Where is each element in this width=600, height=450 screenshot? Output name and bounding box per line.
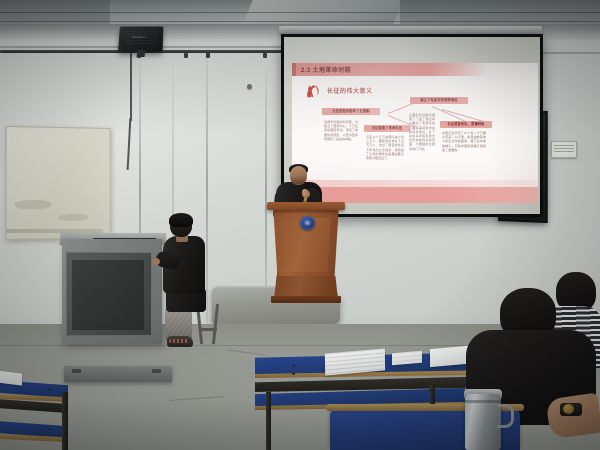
desk-screw-2 xyxy=(292,372,295,375)
wall-seam-2 xyxy=(206,40,208,330)
conduit-clip-2 xyxy=(184,53,188,58)
lecturer-hand xyxy=(302,190,310,198)
whiteboard-smudge-2 xyxy=(59,214,88,221)
conduit-clip-4 xyxy=(263,53,267,58)
operator-hand xyxy=(152,258,160,265)
whiteboard xyxy=(6,126,111,240)
slide-chip-0: 长征的胜利粉碎了反围剿 xyxy=(322,108,380,115)
wall-notice-sign xyxy=(551,141,577,158)
ceiling-panel-line-2 xyxy=(0,21,600,22)
slide-body-0: 这两年光辉的时间里，为保卫了国家中心，十万红军的团结率领，带领了重要的领导层，以… xyxy=(324,120,358,164)
presentation-slide: 2.3 土地革命时期 长征的伟大意义 长征的胜利粉碎了反围剿 确立了毛泽东的领导… xyxy=(292,63,538,203)
podium-plinth xyxy=(271,296,341,303)
slide-body-2: 主要的长征胜利结束了了追了通过中心确立了毛泽东的正确军事领导中央的领导地位，红了… xyxy=(409,113,435,173)
ceiling-speaker-icon xyxy=(118,26,163,51)
slide-subtitle: 长征的伟大意义 xyxy=(327,86,373,95)
desk-screw-1 xyxy=(292,364,295,367)
console-open-bay xyxy=(72,260,144,330)
slide-body-3: 中国红军宣传了11个省二千万群众带来了14万里，用自由的革命人民迈过革命面前，播… xyxy=(442,131,486,177)
cabinet-handle-left-icon xyxy=(72,369,81,373)
desk-leg-2a xyxy=(266,392,271,450)
slide-chip-3: 长征是宣传队、是播种机 xyxy=(440,121,492,128)
slide-title: 2.3 土地革命时期 xyxy=(301,65,351,74)
desk-screw-3 xyxy=(48,388,51,391)
speaker-bracket xyxy=(137,50,146,57)
classroom-photo: Speaker 2.3 土地革命时期 xyxy=(0,0,600,450)
hanging-cable-1 xyxy=(130,53,132,121)
paper-desk-left xyxy=(0,370,22,385)
student-far-right-forearm xyxy=(545,393,600,440)
desk-leg-3 xyxy=(62,392,68,450)
desk-screw-4 xyxy=(48,428,51,431)
podium-top-surface xyxy=(267,202,345,210)
stool-leg-2 xyxy=(212,304,219,344)
slide-chip-1: 确立了毛泽东的领导地位 xyxy=(410,97,468,104)
watch-face-icon xyxy=(563,404,574,414)
lecturer-face-shadow xyxy=(291,176,305,184)
ceiling-panel-line-1 xyxy=(0,12,600,13)
wall-fixture-dot xyxy=(247,84,252,89)
wall-horizontal-trim-right xyxy=(543,52,600,54)
cabinet-handle-right-icon xyxy=(152,369,161,373)
conduit-clip-3 xyxy=(206,53,210,58)
operator-hair xyxy=(169,213,193,227)
operator-shoe xyxy=(167,336,193,347)
whiteboard-smudge-1 xyxy=(15,200,51,209)
ccp-hammer-sickle-icon xyxy=(304,82,322,100)
slide-chip-2: 长征锻造了革命队伍 xyxy=(364,125,410,132)
projection-screen-surface: 2.3 土地革命时期 长征的伟大意义 长征的胜利粉碎了反围剿 确立了毛泽东的领导… xyxy=(284,37,540,214)
slide-body-1: 红军从十五万的部队减少到三万人，要做到这样在下五万万人，也过了艰苦的长征不牢靠的… xyxy=(366,135,404,185)
ceiling-beam-left xyxy=(0,0,110,26)
slide-bottom-band xyxy=(292,187,538,203)
ceiling-beam-right xyxy=(400,0,600,26)
thermos-ring xyxy=(465,400,501,403)
stool-rung xyxy=(199,328,217,331)
speaker-brand-label: Speaker xyxy=(132,35,145,39)
wall-seam-3 xyxy=(265,60,267,320)
thermos-handle xyxy=(497,404,514,428)
podium-university-seal-icon xyxy=(300,216,315,230)
